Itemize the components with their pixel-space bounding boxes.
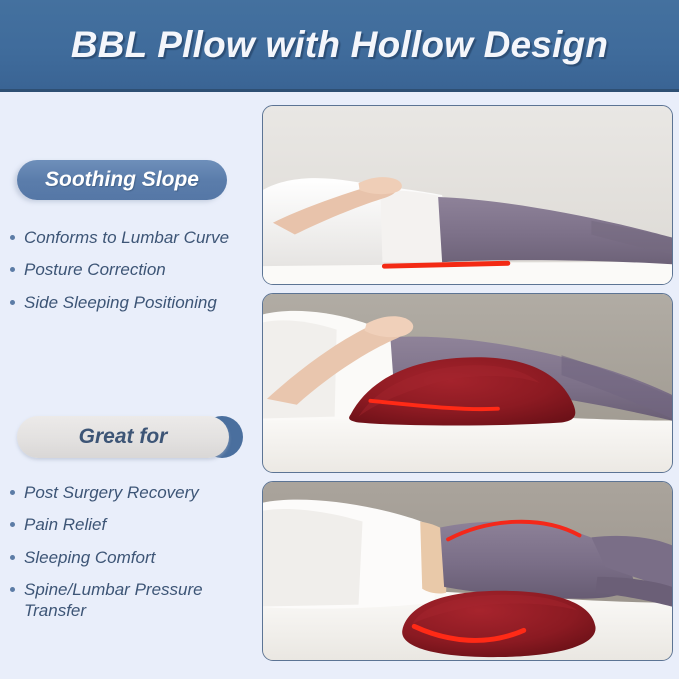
- list-item: Posture Correction: [8, 259, 258, 280]
- page-title: BBL Pllow with Hollow Design: [0, 0, 679, 89]
- photo-3-illustration: [263, 482, 672, 660]
- badge-great-for-wrap: Great for: [17, 416, 243, 458]
- list-item: Conforms to Lumbar Curve: [8, 227, 258, 248]
- feature-column: Soothing Slope Conforms to Lumbar Curve …: [0, 92, 256, 679]
- photo-2-illustration: [263, 294, 672, 472]
- photo-column: [262, 105, 673, 661]
- photo-side-lying-with-pillow: [262, 293, 673, 473]
- list-item: Side Sleeping Positioning: [8, 292, 258, 313]
- photo-lying-flat-without-pillow: [262, 105, 673, 285]
- feature-list-great-for: Post Surgery Recovery Pain Relief Sleepi…: [8, 482, 258, 632]
- list-item: Spine/Lumbar Pressure Transfer: [8, 579, 258, 622]
- list-item: Post Surgery Recovery: [8, 482, 258, 503]
- feature-list-soothing-slope: Conforms to Lumbar Curve Posture Correct…: [8, 227, 258, 324]
- red-flat-line-indicator: [384, 263, 507, 266]
- list-item: Sleeping Comfort: [8, 547, 258, 568]
- list-item: Pain Relief: [8, 514, 258, 535]
- badge-great-for: Great for: [17, 416, 229, 458]
- badge-soothing-slope: Soothing Slope: [17, 160, 227, 200]
- photo-1-illustration: [263, 106, 672, 284]
- photo-prone-lying-with-pillow: [262, 481, 673, 661]
- product-infographic: BBL Pllow with Hollow Design Soothing Sl…: [0, 0, 679, 679]
